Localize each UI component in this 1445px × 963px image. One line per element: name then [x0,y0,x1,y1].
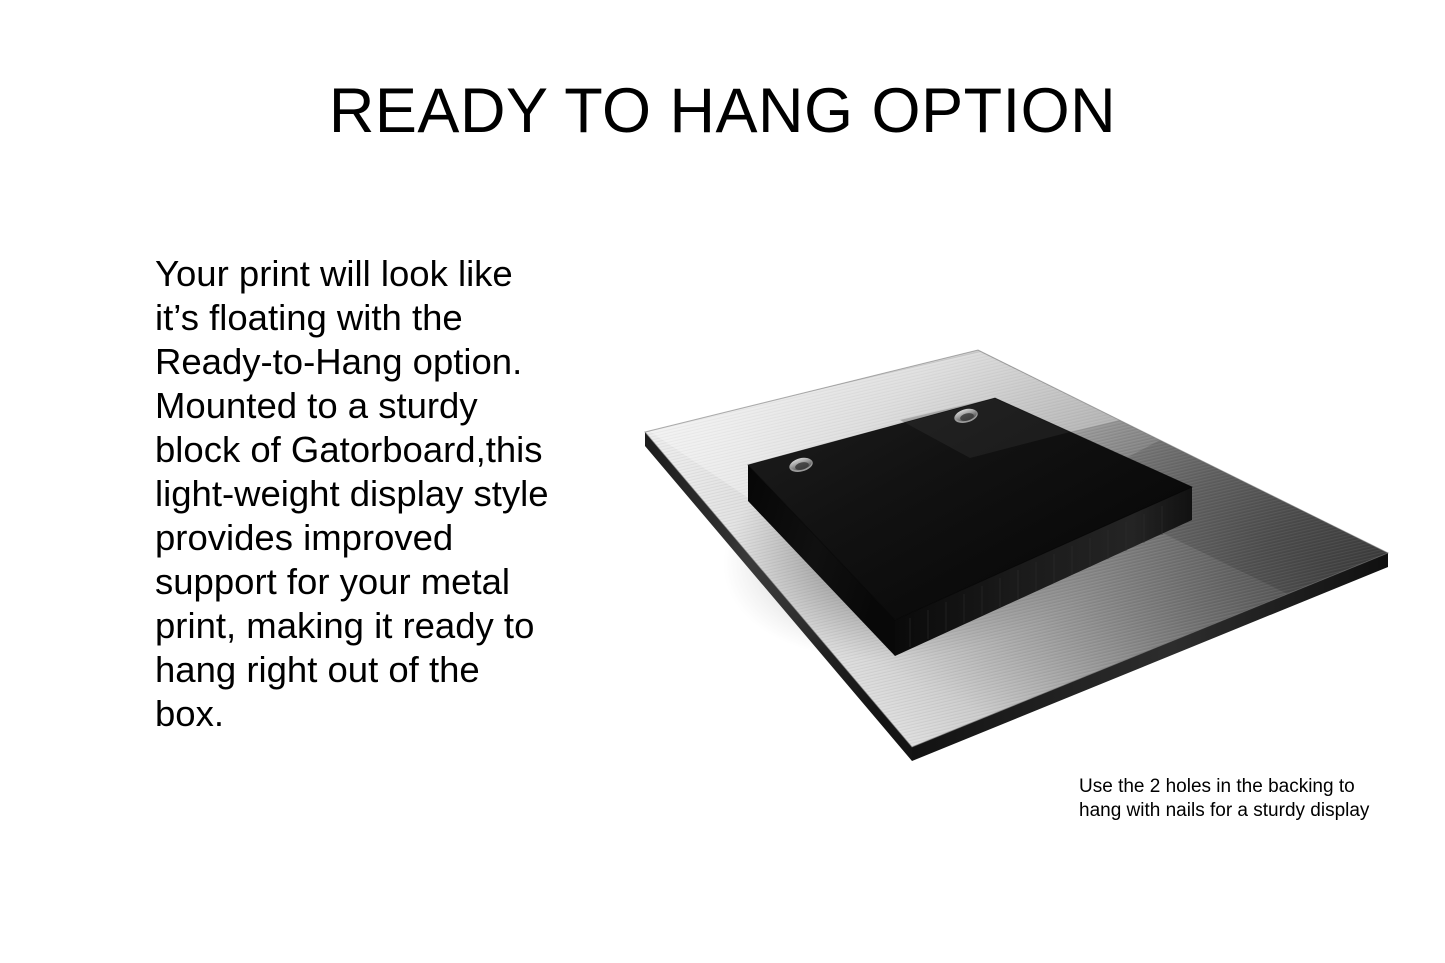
body-paragraph: Your print will look like it’s floating … [155,252,555,736]
product-illustration [600,320,1420,780]
product-illustration-svg [600,320,1420,780]
slide-canvas: READY TO HANG OPTION Your print will loo… [0,0,1445,963]
page-title: READY TO HANG OPTION [0,78,1445,144]
product-caption: Use the 2 holes in the backing to hang w… [1079,775,1379,822]
